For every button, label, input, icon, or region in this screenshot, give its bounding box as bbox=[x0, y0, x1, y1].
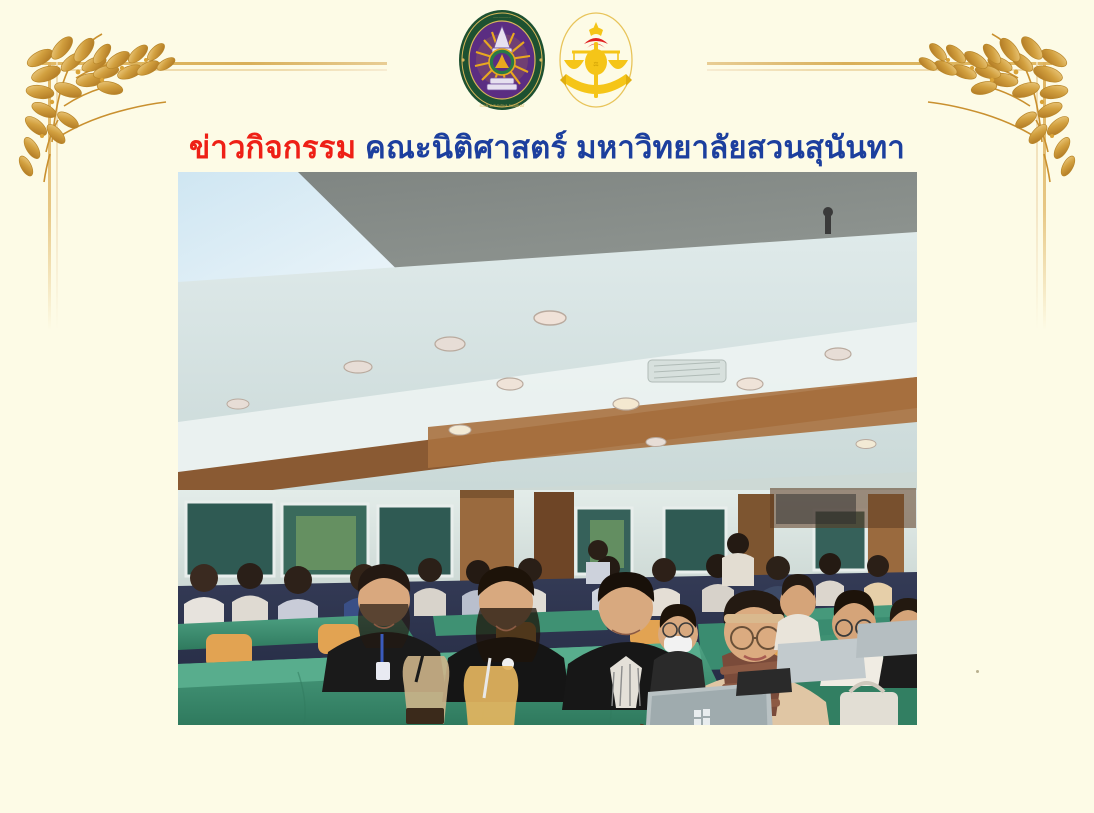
page-title: ข่าวกิจกรรม คณะนิติศาสตร์ มหาวิทยาลัยสวน… bbox=[0, 122, 1094, 172]
faculty-of-law-emblem-icon: ⚖ bbox=[554, 8, 638, 112]
page-title-blue-part: คณะนิติศาสตร์ มหาวิทยาลัยสวนสุนันทา bbox=[365, 130, 905, 165]
ssru-university-seal-icon: ................. SUAN SUNANDHA RAJABHAT bbox=[456, 8, 548, 112]
logo-row: ................. SUAN SUNANDHA RAJABHAT bbox=[0, 8, 1094, 112]
svg-text:.................: ................. bbox=[493, 15, 510, 19]
svg-text:⚖: ⚖ bbox=[593, 61, 598, 68]
footer: คณะนิติศาสตร์ มหาวิทยาลัยราชภัฏสวนสุนันท… bbox=[0, 725, 1094, 813]
stray-speck bbox=[976, 670, 979, 673]
event-photo bbox=[178, 172, 917, 725]
svg-text:SUAN SUNANDHA RAJABHAT: SUAN SUNANDHA RAJABHAT bbox=[479, 104, 524, 108]
page-title-red-part: ข่าวกิจกรรม bbox=[189, 130, 356, 165]
